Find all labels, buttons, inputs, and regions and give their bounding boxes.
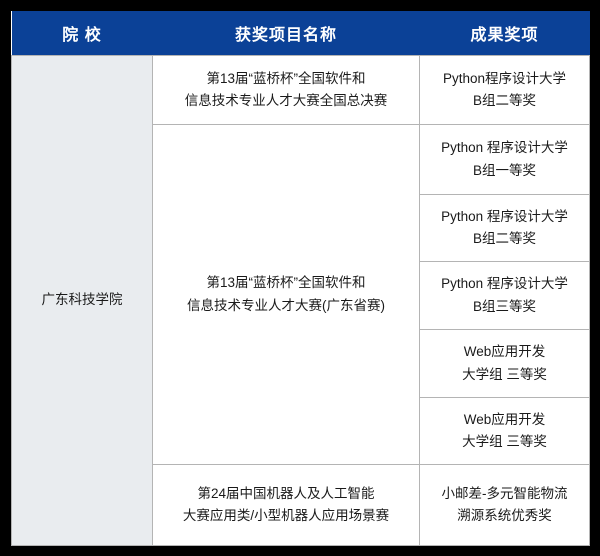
header-cell-school: 院 校 [12, 11, 153, 56]
cell-award-2: Python 程序设计大学 B组二等奖 [420, 195, 590, 262]
award-2-line2: B组二等奖 [428, 228, 581, 250]
award-4-line1: Web应用开发 [428, 341, 581, 363]
cell-award-3: Python 程序设计大学 B组三等奖 [420, 262, 590, 330]
header-cell-award: 成果奖项 [420, 11, 590, 56]
project-2-line2: 大赛应用类/小型机器人应用场景赛 [161, 505, 411, 527]
page-root: 院 校 获奖项目名称 成果奖项 广东科技学院 第13届“蓝桥杯”全国软件和 信息… [0, 0, 600, 556]
award-6-line1: 小邮差-多元智能物流 [428, 483, 581, 505]
project-2-line1: 第24届中国机器人及人工智能 [161, 483, 411, 505]
project-0-line1: 第13届“蓝桥杯”全国软件和 [161, 68, 411, 90]
award-2-line1: Python 程序设计大学 [428, 206, 581, 228]
table-body: 广东科技学院 第13届“蓝桥杯”全国软件和 信息技术专业人才大赛全国总决赛 Py… [12, 56, 590, 546]
table-header: 院 校 获奖项目名称 成果奖项 [12, 11, 590, 56]
table-row: 广东科技学院 第13届“蓝桥杯”全国软件和 信息技术专业人才大赛全国总决赛 Py… [12, 56, 590, 125]
cell-project-0: 第13届“蓝桥杯”全国软件和 信息技术专业人才大赛全国总决赛 [153, 56, 420, 125]
cell-award-5: Web应用开发 大学组 三等奖 [420, 398, 590, 465]
award-table-container: 院 校 获奖项目名称 成果奖项 广东科技学院 第13届“蓝桥杯”全国软件和 信息… [11, 11, 589, 545]
cell-project-2: 第24届中国机器人及人工智能 大赛应用类/小型机器人应用场景赛 [153, 465, 420, 546]
cell-award-4: Web应用开发 大学组 三等奖 [420, 330, 590, 398]
award-1-line1: Python 程序设计大学 [428, 137, 581, 159]
award-3-line2: B组三等奖 [428, 296, 581, 318]
cell-award-0: Python程序设计大学 B组二等奖 [420, 56, 590, 125]
award-1-line2: B组一等奖 [428, 160, 581, 182]
header-row: 院 校 获奖项目名称 成果奖项 [12, 11, 590, 56]
award-0-line1: Python程序设计大学 [428, 68, 581, 90]
project-1-line2: 信息技术专业人才大赛(广东省赛) [161, 295, 411, 317]
award-0-line2: B组二等奖 [428, 90, 581, 112]
project-0-line2: 信息技术专业人才大赛全国总决赛 [161, 90, 411, 112]
cell-award-1: Python 程序设计大学 B组一等奖 [420, 125, 590, 195]
award-4-line2: 大学组 三等奖 [428, 364, 581, 386]
cell-project-1: 第13届“蓝桥杯”全国软件和 信息技术专业人才大赛(广东省赛) [153, 125, 420, 465]
header-cell-project: 获奖项目名称 [153, 11, 420, 56]
award-6-line2: 溯源系统优秀奖 [428, 505, 581, 527]
award-5-line1: Web应用开发 [428, 409, 581, 431]
award-table: 院 校 获奖项目名称 成果奖项 广东科技学院 第13届“蓝桥杯”全国软件和 信息… [11, 11, 590, 546]
cell-school-name: 广东科技学院 [12, 56, 153, 546]
project-1-line1: 第13届“蓝桥杯”全国软件和 [161, 272, 411, 294]
award-3-line1: Python 程序设计大学 [428, 273, 581, 295]
award-5-line2: 大学组 三等奖 [428, 431, 581, 453]
cell-award-6: 小邮差-多元智能物流 溯源系统优秀奖 [420, 465, 590, 546]
